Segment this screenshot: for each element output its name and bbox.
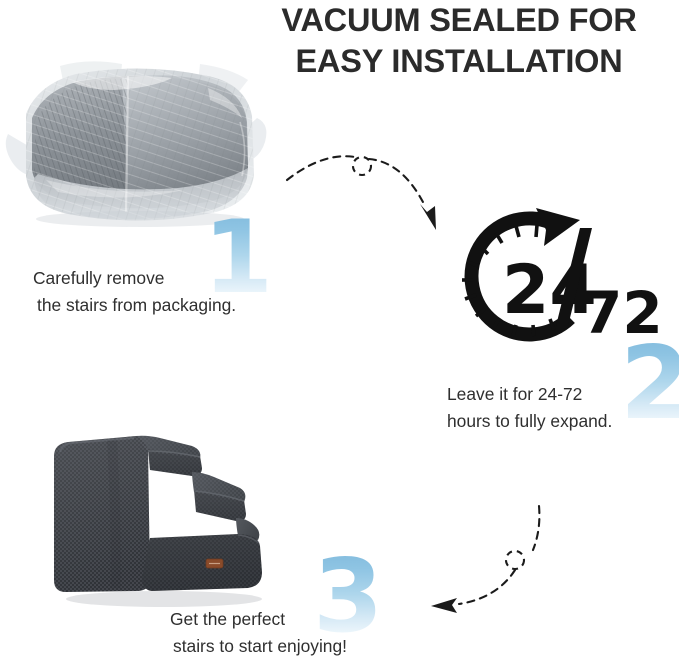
- title-line-2: EASY INSTALLATION: [239, 41, 679, 82]
- step-3-caption-line-1: Get the perfect: [170, 606, 347, 633]
- clock-24-72-icon: 24 72: [440, 200, 632, 360]
- pet-stairs-product-image: [42, 420, 274, 610]
- step-1-caption: Carefully remove the stairs from packagi…: [33, 265, 236, 318]
- infographic-page: VACUUM SEALED FOR EASY INSTALLATION: [0, 0, 679, 663]
- arrow-step1-to-step2-icon: [283, 142, 459, 237]
- step-2-caption-line-1: Leave it for 24-72: [447, 381, 612, 408]
- step-number-2: 2: [620, 333, 679, 434]
- product-brand-tag: [206, 559, 223, 568]
- step-2-caption-line-2: hours to fully expand.: [447, 408, 612, 435]
- arrow-step2-to-step3-icon: [423, 502, 599, 620]
- step-1-caption-line-1: Carefully remove: [33, 265, 236, 292]
- title-line-1: VACUUM SEALED FOR: [239, 0, 679, 41]
- step-2-caption: Leave it for 24-72 hours to fully expand…: [447, 381, 612, 434]
- step-3-caption-line-2: stairs to start enjoying!: [173, 633, 347, 660]
- step-3-caption: Get the perfect stairs to start enjoying…: [170, 606, 347, 659]
- step-1-caption-line-2: the stairs from packaging.: [37, 292, 236, 319]
- page-title: VACUUM SEALED FOR EASY INSTALLATION: [239, 0, 679, 82]
